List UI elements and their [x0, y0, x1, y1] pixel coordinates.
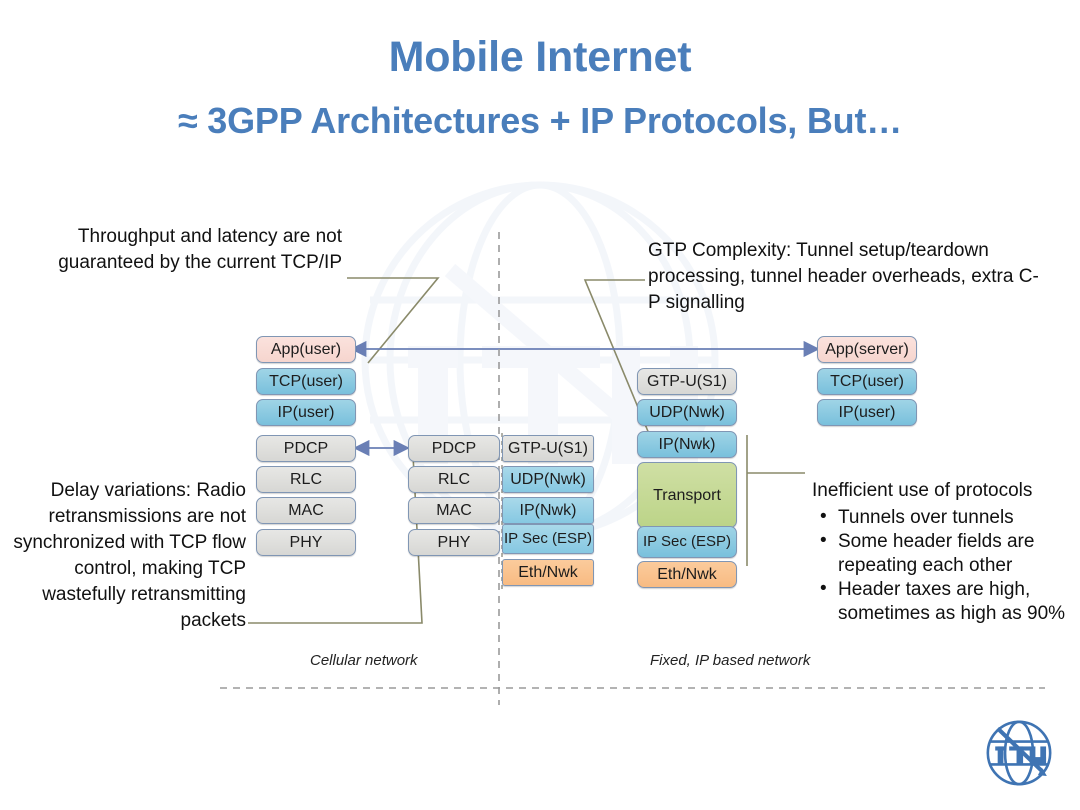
stack-enb-transport-layer-gtpu[interactable]: GTP-U(S1) — [502, 435, 594, 462]
stack-enb-transport-layer-eth[interactable]: Eth/Nwk — [502, 559, 594, 586]
itu-logo — [978, 712, 1060, 794]
callout-inefficient-protocols: Inefficient use of protocols •Tunnels ov… — [812, 478, 1074, 626]
stack-ue-layer-app-user[interactable]: App(user) — [256, 336, 356, 363]
callout-throughput-latency: Throughput and latency are not guarantee… — [52, 224, 342, 276]
bullet-glyph: • — [820, 529, 827, 553]
stack-enb-layer-phy[interactable]: PHY — [408, 529, 500, 556]
stack-server-layer-app-server[interactable]: App(server) — [817, 336, 917, 363]
slide-canvas: Mobile Internet ≈ 3GPP Architectures + I… — [0, 0, 1080, 810]
callout-gtp-complexity: GTP Complexity: Tunnel setup/teardown pr… — [648, 238, 1048, 316]
stack-sgw-layer-udp[interactable]: UDP(Nwk) — [637, 399, 737, 426]
callout-inefficient-heading: Inefficient use of protocols — [812, 478, 1074, 504]
stack-ue-layer-pdcp[interactable]: PDCP — [256, 435, 356, 462]
slide-title-line1: Mobile Internet — [0, 33, 1080, 82]
zone-label-cellular: Cellular network — [310, 652, 418, 669]
list-item: •Header taxes are high, sometimes as hig… — [812, 578, 1074, 626]
stack-ue-layer-mac[interactable]: MAC — [256, 497, 356, 524]
bullet-glyph: • — [820, 505, 827, 529]
stack-server-layer-ip-user[interactable]: IP(user) — [817, 399, 917, 426]
list-item: •Tunnels over tunnels — [812, 506, 1074, 530]
stack-server-layer-tcp-user[interactable]: TCP(user) — [817, 368, 917, 395]
stack-enb-layer-rlc[interactable]: RLC — [408, 466, 500, 493]
stack-enb-transport-layer-udp[interactable]: UDP(Nwk) — [502, 466, 594, 493]
zone-label-fixed: Fixed, IP based network — [650, 652, 810, 669]
stack-sgw-layer-gtpu[interactable]: GTP-U(S1) — [637, 368, 737, 395]
list-item-label: Header taxes are high, sometimes as high… — [838, 579, 1065, 624]
stack-enb-transport-layer-ipsec[interactable]: IP Sec (ESP) — [502, 524, 594, 554]
stack-sgw-layer-eth[interactable]: Eth/Nwk — [637, 561, 737, 588]
stack-enb-transport-layer-ip[interactable]: IP(Nwk) — [502, 497, 594, 524]
stack-ue-layer-tcp-user[interactable]: TCP(user) — [256, 368, 356, 395]
slide-title-line2: ≈ 3GPP Architectures + IP Protocols, But… — [0, 100, 1080, 142]
stack-ue-layer-rlc[interactable]: RLC — [256, 466, 356, 493]
bullet-glyph: • — [820, 577, 827, 601]
callout-delay-variations: Delay variations: Radio retransmissions … — [8, 478, 246, 634]
stack-sgw-layer-ip[interactable]: IP(Nwk) — [637, 431, 737, 458]
stack-ue-layer-ip-user[interactable]: IP(user) — [256, 399, 356, 426]
list-item: •Some header fields are repeating each o… — [812, 530, 1074, 578]
list-item-label: Tunnels over tunnels — [838, 507, 1014, 528]
stack-sgw-layer-transport[interactable]: Transport — [637, 462, 737, 528]
stack-ue-layer-phy[interactable]: PHY — [256, 529, 356, 556]
stack-enb-layer-mac[interactable]: MAC — [408, 497, 500, 524]
stack-sgw-layer-ipsec[interactable]: IP Sec (ESP) — [637, 526, 737, 558]
list-item-label: Some header fields are repeating each ot… — [838, 531, 1034, 576]
callout-inefficient-list: •Tunnels over tunnels •Some header field… — [812, 506, 1074, 626]
stack-enb-layer-pdcp[interactable]: PDCP — [408, 435, 500, 462]
